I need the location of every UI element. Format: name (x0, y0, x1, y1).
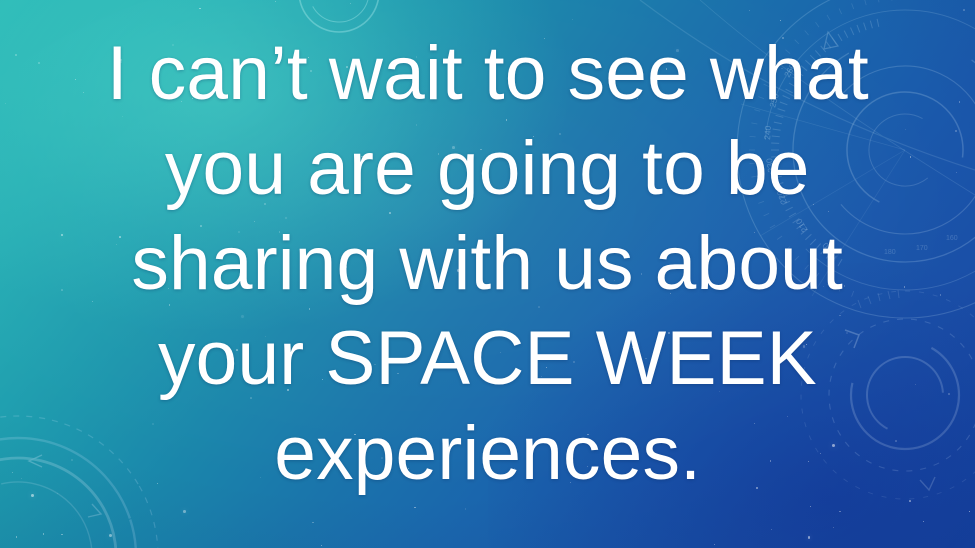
text-line-1: I can’t wait to see what (106, 26, 868, 121)
presentation-slide: 260 250 240 230 220 210 200 180 170 160 (0, 0, 975, 548)
text-line-2: you are going to be (165, 121, 810, 216)
text-line-4: your SPACE WEEK (158, 311, 817, 406)
text-line-3: sharing with us about (132, 216, 844, 311)
slide-body-text: I can’t wait to see what you are going t… (0, 26, 975, 501)
text-line-5: experiences. (274, 406, 701, 501)
